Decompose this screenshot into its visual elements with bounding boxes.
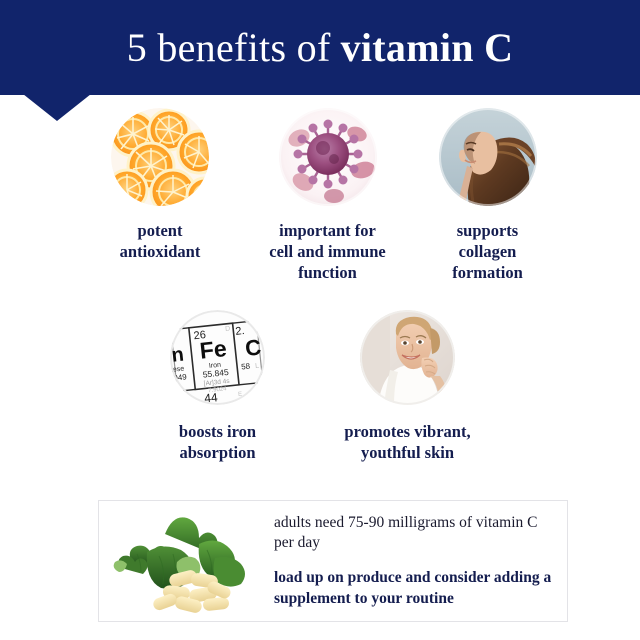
- benefit-caption: important for cell and immune function: [269, 220, 385, 283]
- virus-cell-photo: [279, 108, 377, 206]
- callout-regular-text: adults need 75-90 milligrams of vitamin …: [274, 513, 555, 554]
- svg-text:Fe: Fe: [198, 335, 227, 364]
- caption-line: promotes vibrant,: [344, 421, 470, 442]
- header-banner: 5 benefits of vitamin C: [0, 0, 640, 95]
- svg-text:D: D: [225, 325, 231, 332]
- caption-line: function: [269, 262, 385, 283]
- page-title: 5 benefits of vitamin C: [0, 0, 640, 95]
- caption-line: important for: [269, 220, 385, 241]
- orange-slices-photo: [111, 108, 209, 206]
- benefits-row-2: 26 Fe Iron 55.845 [Ar]3d 4s 7.9024 44 n …: [0, 310, 640, 463]
- caption-line: potent: [120, 220, 201, 241]
- caption-line: collagen: [452, 241, 523, 262]
- benefit-caption: boosts iron absorption: [179, 421, 256, 463]
- benefit-collagen-formation: supports collagen formation: [415, 108, 560, 283]
- benefits-row-1: potent antioxidant: [0, 108, 640, 283]
- page-title-regular: 5 benefits of: [127, 24, 331, 71]
- benefit-potent-antioxidant: potent antioxidant: [80, 108, 240, 283]
- woman-flowing-hair-photo: [439, 108, 537, 206]
- benefit-youthful-skin: promotes vibrant, youthful skin: [305, 310, 510, 463]
- benefit-cell-and-immune-function: important for cell and immune function: [240, 108, 415, 283]
- caption-line: antioxidant: [120, 241, 201, 262]
- benefit-caption: promotes vibrant, youthful skin: [344, 421, 470, 463]
- woman-touching-face-photo: [360, 310, 455, 405]
- svg-text:4: 4: [174, 386, 179, 392]
- periodic-table-iron-photo: 26 Fe Iron 55.845 [Ar]3d 4s 7.9024 44 n …: [170, 310, 265, 405]
- callout-text: adults need 75-90 milligrams of vitamin …: [268, 513, 567, 609]
- caption-line: cell and immune: [269, 241, 385, 262]
- caption-line: supports: [452, 220, 523, 241]
- page-title-bold: vitamin C: [341, 24, 514, 71]
- caption-line: absorption: [179, 442, 256, 463]
- kale-greens-and-supplement-capsules-photo: [103, 506, 268, 616]
- caption-line: formation: [452, 262, 523, 283]
- svg-text:58: 58: [241, 362, 251, 372]
- benefit-caption: supports collagen formation: [452, 220, 523, 283]
- callout-bold-text: load up on produce and consider adding a…: [274, 568, 555, 609]
- caption-line: boosts iron: [179, 421, 256, 442]
- benefit-caption: potent antioxidant: [120, 220, 201, 262]
- daily-intake-callout: adults need 75-90 milligrams of vitamin …: [98, 500, 568, 622]
- caption-line: youthful skin: [344, 442, 470, 463]
- benefit-iron-absorption: 26 Fe Iron 55.845 [Ar]3d 4s 7.9024 44 n …: [130, 310, 305, 463]
